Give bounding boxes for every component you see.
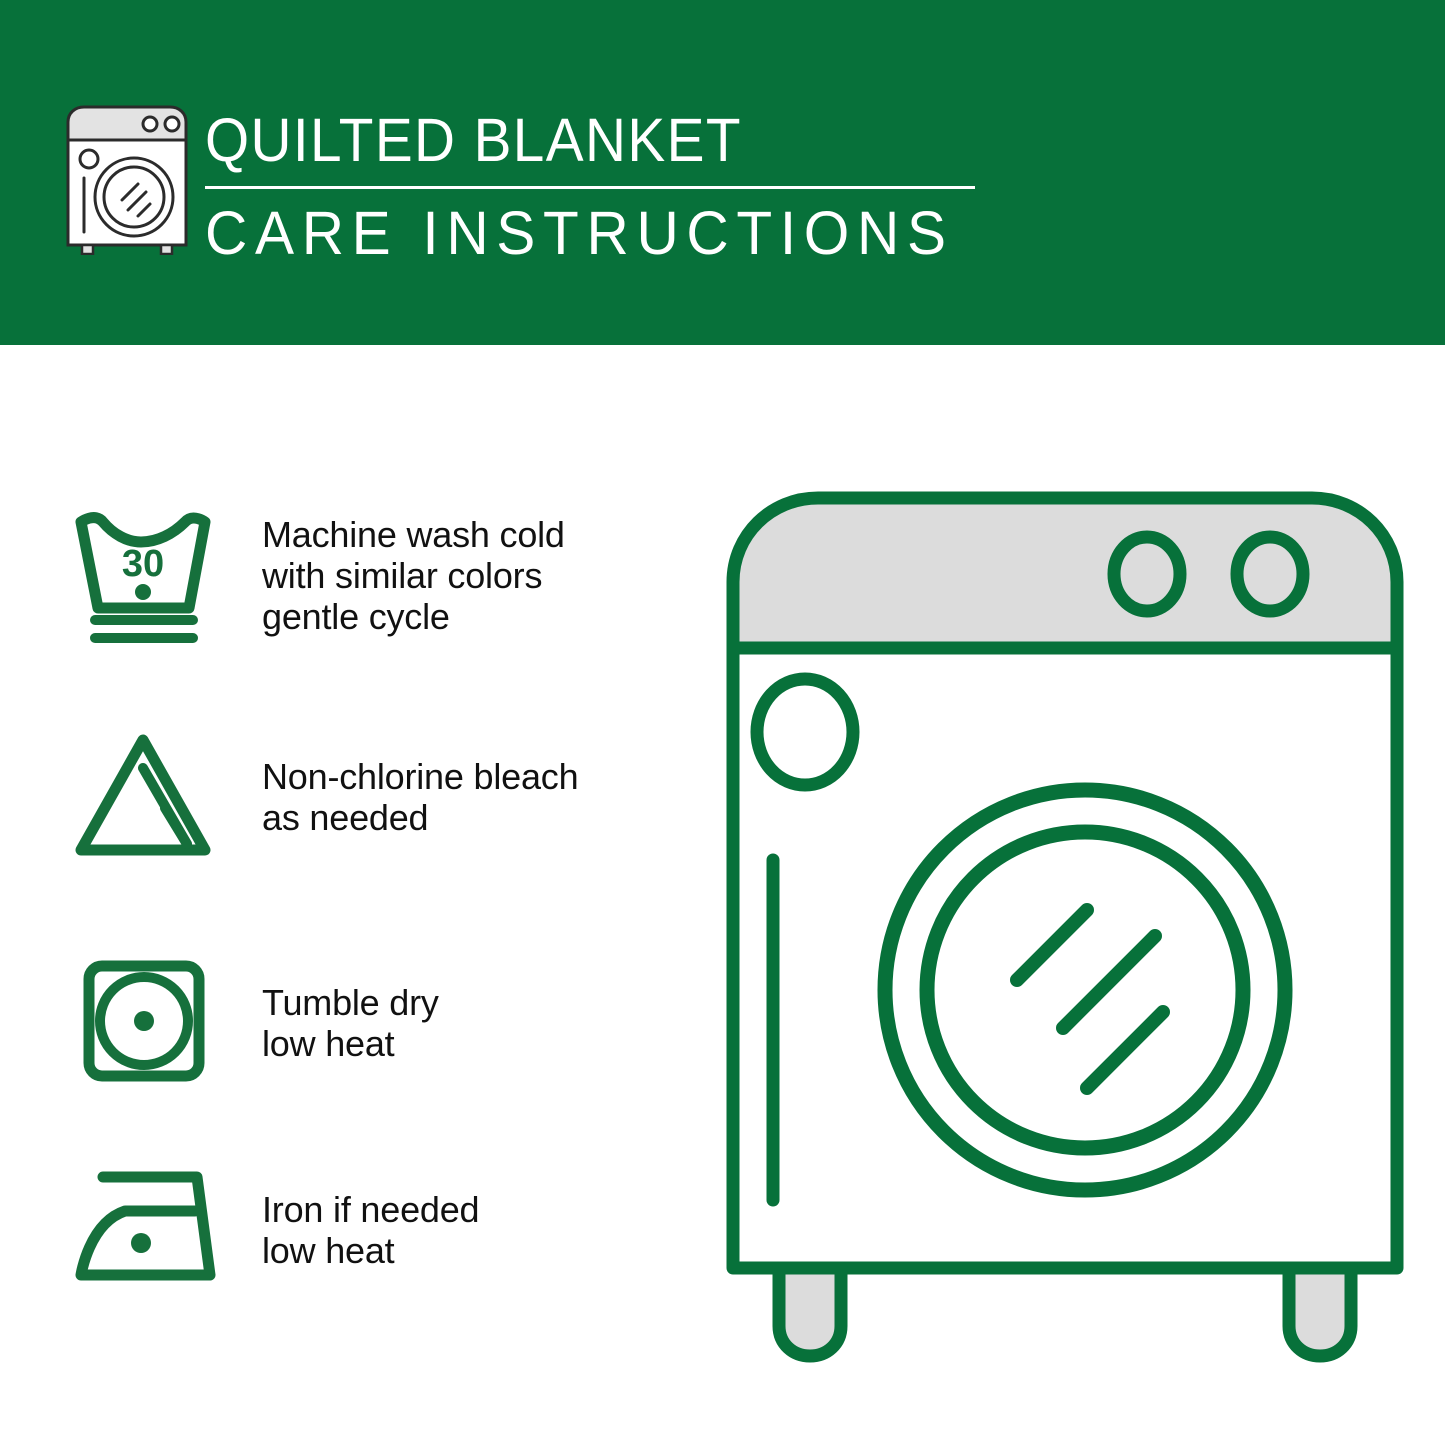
care-text-line: low heat [262,1023,700,1064]
motion-line [1017,910,1087,980]
care-instruction-row: 30 Machine wash cold with similar colors… [60,490,700,660]
iron-icon [60,1145,240,1315]
care-text-line: Machine wash cold [262,514,700,555]
indicator-circle-icon [757,679,853,785]
care-instruction-text: Tumble dry low heat [240,982,700,1064]
care-text-line: low heat [262,1230,700,1271]
wash-dot-icon [135,584,151,600]
motion-line [1087,1012,1163,1088]
wash-tub-icon: 30 [60,490,240,660]
washing-machine-illustration [715,470,1415,1370]
care-instruction-row: Iron if needed low heat [60,1145,700,1315]
care-instruction-text: Machine wash cold with similar colors ge… [240,514,700,637]
care-instruction-text: Iron if needed low heat [240,1189,700,1271]
bleach-triangle-icon [60,712,240,882]
tumble-dry-icon [60,938,240,1108]
care-text-line: Iron if needed [262,1189,700,1230]
care-text-line: gentle cycle [262,596,700,637]
care-text-line: Tumble dry [262,982,700,1023]
machine-leg [779,1268,841,1356]
washing-machine-icon [62,100,192,255]
page-subtitle: CARE INSTRUCTIONS [205,198,963,268]
care-text-line: as needed [262,797,700,838]
wash-temperature-label: 30 [122,543,164,585]
care-instruction-row: Non-chlorine bleach as needed [60,712,700,882]
header-band: QUILTED BLANKET CARE INSTRUCTIONS [0,0,1445,345]
care-instruction-row: Tumble dry low heat [60,938,700,1108]
door-inner-ring [927,832,1243,1148]
page-title: QUILTED BLANKET [205,104,940,176]
motion-line [1063,936,1155,1028]
care-text-line: Non-chlorine bleach [262,756,700,797]
door-outer-ring [885,790,1285,1190]
header-title-block: QUILTED BLANKET CARE INSTRUCTIONS [205,104,995,268]
dry-heat-dot-icon [134,1011,154,1031]
care-text-line: with similar colors [262,555,700,596]
care-instructions-page: QUILTED BLANKET CARE INSTRUCTIONS 30 Mac… [0,0,1445,1445]
machine-leg [1289,1268,1351,1356]
iron-heat-dot-icon [131,1233,151,1253]
care-instruction-text: Non-chlorine bleach as needed [240,756,700,838]
title-divider [205,186,975,189]
